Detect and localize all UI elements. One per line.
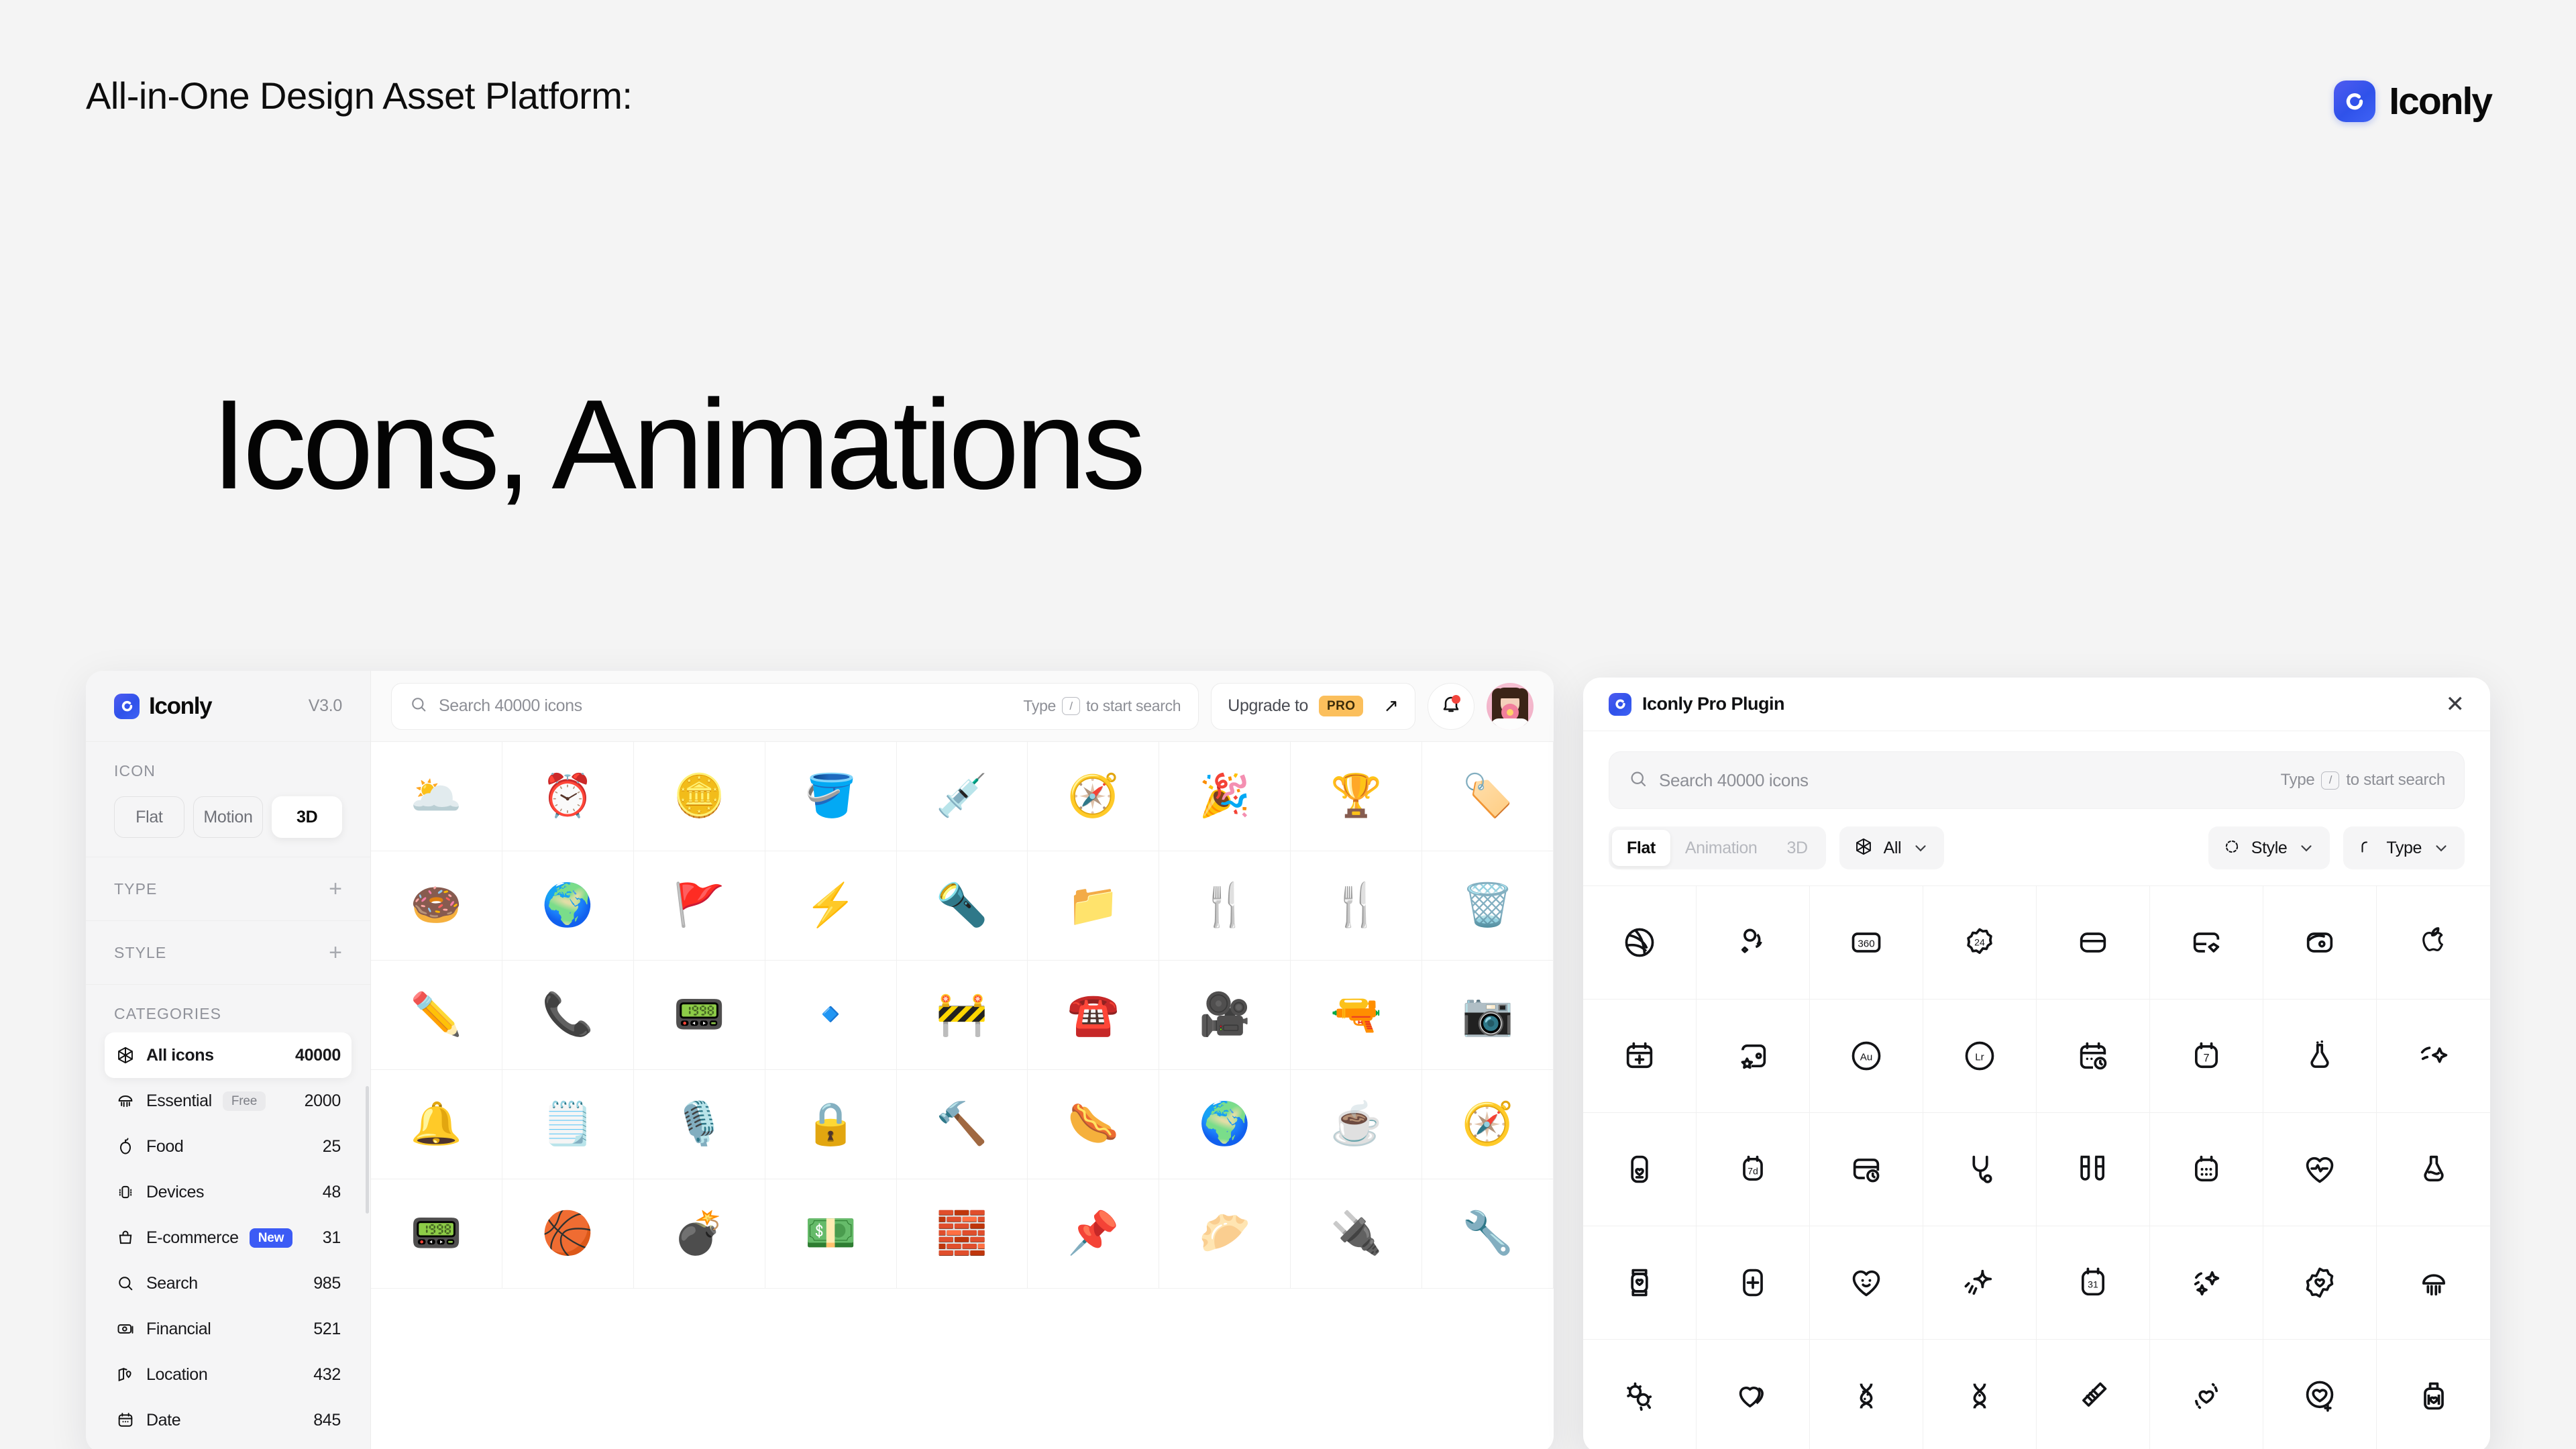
plugin-search-placeholder: Search 40000 icons — [1659, 770, 1809, 791]
svg-text:Au: Au — [1860, 1052, 1873, 1063]
status-badge: Free — [223, 1091, 266, 1111]
sidebar-item-all-icons[interactable]: All icons 40000 — [105, 1032, 352, 1078]
icon-type-toggle-group: Flat Motion 3D — [114, 796, 342, 838]
plugin-icon-grid: 36024AuLr77d31 — [1583, 885, 2490, 1449]
icon-cell[interactable]: 🔒 — [765, 1070, 897, 1179]
360-icon[interactable]: 360 — [1810, 886, 1923, 1000]
close-icon[interactable]: ✕ — [2446, 693, 2465, 716]
lr-circle-icon[interactable]: Lr — [1923, 1000, 2037, 1113]
category-count: 845 — [313, 1411, 341, 1430]
dna-icon[interactable] — [1923, 1340, 2037, 1449]
plus-icon[interactable]: + — [329, 941, 342, 964]
hint-pre: Type — [2281, 771, 2315, 790]
user-sparkle-icon[interactable] — [1697, 886, 1810, 1000]
plugin-style-dropdown[interactable]: Style — [2208, 826, 2330, 869]
chip-icon — [115, 1182, 136, 1202]
au-circle-icon[interactable]: Au — [1810, 1000, 1923, 1113]
icon-cell[interactable]: 🌭 — [1028, 1070, 1159, 1179]
iconly-pro-plugin-panel: Iconly Pro Plugin ✕ Search 40000 icons T… — [1583, 678, 2490, 1449]
search-input[interactable]: Search 40000 icons Type / to start searc… — [391, 683, 1199, 730]
category-count: 31 — [323, 1228, 341, 1248]
sidebar-version: V3.0 — [309, 696, 342, 716]
icon-cell[interactable]: 💣 — [634, 1179, 765, 1289]
category-count: 2000 — [305, 1091, 341, 1111]
svg-text:7: 7 — [2203, 1053, 2209, 1065]
sparkle-motion-icon[interactable] — [2377, 1000, 2490, 1113]
plugin-controls: Search 40000 icons Type / to start searc… — [1583, 731, 2490, 885]
plugin-logo-icon — [1609, 693, 1631, 716]
sidebar-item-food[interactable]: Food 25 — [105, 1124, 352, 1169]
icon-cell[interactable]: 🏀 — [502, 1179, 634, 1289]
apple-fruit-icon — [115, 1136, 136, 1157]
icon-cell[interactable]: 🌥️ — [371, 742, 502, 851]
chevron-down-icon — [2298, 839, 2315, 857]
category-count: 521 — [313, 1320, 341, 1339]
sidebar-item-date[interactable]: Date 845 — [105, 1397, 352, 1443]
plugin-search-input[interactable]: Search 40000 icons Type / to start searc… — [1609, 751, 2465, 809]
icon-cell[interactable]: 🌍 — [1159, 1070, 1291, 1179]
icon-cell[interactable]: 🔦 — [897, 851, 1028, 961]
category-name: Date — [146, 1411, 180, 1430]
icon-cell[interactable]: 🗑️ — [1422, 851, 1554, 961]
icon-cell[interactable]: 🍴 — [1159, 851, 1291, 961]
card-shield-icon[interactable] — [2150, 886, 2263, 1000]
category-count: 48 — [323, 1183, 341, 1202]
category-name: Search — [146, 1274, 198, 1293]
sidebar-item-ecommerce[interactable]: E-commerce New 31 — [105, 1215, 352, 1260]
cube-icon — [1854, 837, 1873, 859]
dna-dots-icon[interactable] — [1810, 1340, 1923, 1449]
search-icon — [1628, 769, 1648, 792]
cube-icon — [115, 1045, 136, 1065]
category-count: 25 — [323, 1137, 341, 1157]
plus-icon[interactable]: + — [329, 877, 342, 900]
style-filter-label: STYLE — [114, 944, 166, 962]
plugin-type-dropdown[interactable]: Type — [2343, 826, 2465, 869]
category-name: Financial — [146, 1320, 211, 1339]
avatar[interactable] — [1487, 683, 1534, 730]
sparkle-star-icon[interactable] — [1923, 1226, 2037, 1340]
calendar-clock-icon[interactable] — [2037, 1000, 2150, 1113]
icon-cell[interactable]: 🚩 — [634, 851, 765, 961]
brand-wordmark: Iconly — [2389, 79, 2491, 123]
icon-cell[interactable]: 🧱 — [897, 1179, 1028, 1289]
icon-cell[interactable]: 🍴 — [1291, 851, 1422, 961]
sidebar-header: Iconly V3.0 — [86, 671, 370, 742]
type-filter-label: TYPE — [114, 880, 157, 898]
icon-cell[interactable]: 🧭 — [1028, 742, 1159, 851]
card-icon[interactable] — [2037, 886, 2150, 1000]
heart-pulse-icon[interactable] — [2263, 1113, 2377, 1226]
wallet-star-icon[interactable] — [1697, 1000, 1810, 1113]
category-count: 985 — [313, 1274, 341, 1293]
sidebar-item-ecommerce-2[interactable]: E-commerce 31 — [105, 1443, 352, 1449]
svg-text:31: 31 — [2088, 1279, 2098, 1290]
icon-cell[interactable]: 🚧 — [897, 961, 1028, 1070]
heart-refresh-icon[interactable] — [2150, 1340, 2263, 1449]
plugin-header: Iconly Pro Plugin ✕ — [1583, 678, 2490, 731]
flask-icon[interactable] — [2263, 1000, 2377, 1113]
svg-text:Lr: Lr — [1975, 1052, 1984, 1063]
iconly-logo-icon — [2334, 80, 2375, 122]
icon-cell[interactable]: 💵 — [765, 1179, 897, 1289]
category-name: Food — [146, 1137, 183, 1157]
plugin-type-toggle-group: Flat Animation 3D — [1609, 826, 1826, 869]
icon-cell[interactable]: 📞 — [502, 961, 634, 1070]
slash-key-icon: / — [1062, 697, 1080, 715]
icon-cell[interactable]: 🔫 — [1291, 961, 1422, 1070]
bag-icon — [115, 1228, 136, 1248]
plugin-tab-3d[interactable]: 3D — [1772, 830, 1822, 866]
hero-eyebrow: All-in-One Design Asset Platform: — [86, 74, 632, 117]
icon-type-section: ICON Flat Motion 3D — [86, 742, 370, 857]
heart-plus-icon[interactable] — [2263, 1340, 2377, 1449]
plugin-style-label: Style — [2251, 839, 2288, 858]
sparkles-icon[interactable] — [2150, 1226, 2263, 1340]
icon-cell[interactable]: ☎️ — [1028, 961, 1159, 1070]
hint-pre: Type — [1023, 697, 1056, 715]
category-list: All icons 40000 Essential Free 2000 Food… — [86, 1032, 370, 1449]
icon-type-3d[interactable]: 3D — [272, 796, 342, 838]
plugin-all-label: All — [1884, 839, 1902, 858]
svg-text:24: 24 — [1974, 936, 1985, 947]
icon-cell[interactable]: 🎙️ — [634, 1070, 765, 1179]
upgrade-button[interactable]: Upgrade to PRO ↗ — [1211, 683, 1415, 730]
hint-post: to start search — [2346, 771, 2445, 790]
icon-cell[interactable]: 🔔 — [371, 1070, 502, 1179]
flask-liquid-icon[interactable] — [2377, 1113, 2490, 1226]
icon-cell[interactable]: ☕ — [1291, 1070, 1422, 1179]
search-icon — [115, 1273, 136, 1293]
icon-cell[interactable]: 🗒️ — [502, 1070, 634, 1179]
icon-cell[interactable]: 🌍 — [502, 851, 634, 961]
plugin-title: Iconly Pro Plugin — [1642, 694, 1784, 714]
category-name: Essential — [146, 1091, 212, 1111]
notifications-button[interactable] — [1428, 683, 1474, 730]
icon-cell[interactable]: 🔧 — [1422, 1179, 1554, 1289]
icon-cell[interactable]: 🔹 — [765, 961, 897, 1070]
sidebar-scrollbar[interactable] — [366, 1086, 369, 1214]
iconly-app-window: Iconly V3.0 ICON Flat Motion 3D TYPE + S… — [86, 671, 1554, 1449]
icon-cell[interactable]: 📟 — [371, 1179, 502, 1289]
dribbble-icon[interactable] — [1583, 886, 1697, 1000]
hero-title-line-1: Icons, Animations — [211, 374, 1142, 516]
chevron-down-icon — [1912, 839, 1929, 857]
heart-badge-icon[interactable] — [2263, 1226, 2377, 1340]
icon-cell[interactable]: 📁 — [1028, 851, 1159, 961]
avatar-body — [1491, 718, 1529, 730]
category-count: 432 — [313, 1365, 341, 1385]
sidebar-item-financial[interactable]: Financial 521 — [105, 1306, 352, 1352]
calendar-31-icon[interactable]: 31 — [2037, 1226, 2150, 1340]
app-toolbar: Search 40000 icons Type / to start searc… — [371, 671, 1554, 742]
chevron-down-icon — [2432, 839, 2450, 857]
style-filter-row[interactable]: STYLE + — [86, 921, 370, 985]
icon-cell[interactable]: 📌 — [1028, 1179, 1159, 1289]
notification-dot — [1452, 695, 1460, 704]
test-tubes-icon[interactable] — [2037, 1113, 2150, 1226]
icon-cell[interactable]: 🏆 — [1291, 742, 1422, 851]
apple-icon[interactable] — [2377, 886, 2490, 1000]
app-sidebar: Iconly V3.0 ICON Flat Motion 3D TYPE + S… — [86, 671, 371, 1449]
sidebar-brand-name: Iconly — [149, 693, 211, 720]
plugin-tab-flat[interactable]: Flat — [1612, 830, 1670, 866]
avatar-bangs — [1497, 688, 1523, 698]
categories-label: CATEGORIES — [86, 985, 370, 1032]
icon-type-motion[interactable]: Motion — [193, 796, 264, 838]
icon-cell[interactable]: 💉 — [897, 742, 1028, 851]
type-filter-row[interactable]: TYPE + — [86, 857, 370, 921]
category-name: E-commerce — [146, 1228, 239, 1248]
category-count: 40000 — [295, 1046, 341, 1065]
medicine-bottle-icon[interactable] — [2377, 1340, 2490, 1449]
calendar-add-icon[interactable] — [1583, 1000, 1697, 1113]
icon-cell[interactable]: 🧭 — [1422, 1070, 1554, 1179]
icon-cell[interactable]: 🔨 — [897, 1070, 1028, 1179]
dashed-circle-icon — [2223, 838, 2241, 859]
status-badge: New — [250, 1228, 292, 1248]
search-placeholder: Search 40000 icons — [439, 696, 582, 716]
arrow-up-right-icon: ↗ — [1383, 696, 1399, 716]
two-hearts-icon[interactable] — [1697, 1340, 1810, 1449]
watch-heart-icon[interactable] — [1583, 1113, 1697, 1226]
bandage-icon[interactable] — [2037, 1340, 2150, 1449]
map-pin-icon — [115, 1364, 136, 1385]
stethoscope-icon[interactable] — [1923, 1113, 2037, 1226]
virus-icon[interactable] — [1583, 1340, 1697, 1449]
jellyfish-icon[interactable] — [2377, 1226, 2490, 1340]
category-name: Location — [146, 1365, 207, 1385]
svg-text:360: 360 — [1858, 938, 1874, 950]
sidebar-item-search[interactable]: Search 985 — [105, 1260, 352, 1306]
watch-band-icon[interactable] — [1583, 1226, 1697, 1340]
calendar-dots-icon[interactable] — [2150, 1113, 2263, 1226]
first-aid-icon[interactable] — [1697, 1226, 1810, 1340]
money-icon — [115, 1319, 136, 1339]
icon-results-grid: 🌥️⏰🪙🪣💉🧭🎉🏆🏷️🍩🌍🚩⚡🔦📁🍴🍴🗑️✏️📞📟🔹🚧☎️🎥🔫📷🔔🗒️🎙️🔒🔨🌭… — [371, 742, 1554, 1449]
sidebar-item-devices[interactable]: Devices 48 — [105, 1169, 352, 1215]
icon-cell[interactable]: 📟 — [634, 961, 765, 1070]
icon-cell[interactable]: 🎥 — [1159, 961, 1291, 1070]
hint-post: to start search — [1086, 697, 1181, 715]
search-icon — [409, 695, 428, 717]
calendar-7-icon[interactable]: 7 — [2150, 1000, 2263, 1113]
plugin-tab-animation[interactable]: Animation — [1670, 830, 1772, 866]
heart-face-icon[interactable] — [1810, 1226, 1923, 1340]
calendar-icon — [115, 1410, 136, 1430]
icon-cell[interactable]: 🏷️ — [1422, 742, 1554, 851]
slash-key-icon: / — [2321, 771, 2339, 790]
page-root: All-in-One Design Asset Platform: Icons,… — [0, 0, 2576, 1449]
plugin-all-dropdown[interactable]: All — [1839, 826, 1945, 869]
jellyfish-icon — [115, 1091, 136, 1111]
icon-section-label: ICON — [114, 762, 342, 780]
icon-cell[interactable]: 🪙 — [634, 742, 765, 851]
wallet-icon[interactable] — [2263, 886, 2377, 1000]
icon-cell[interactable]: ⚡ — [765, 851, 897, 961]
sidebar-item-location[interactable]: Location 432 — [105, 1352, 352, 1397]
icon-cell[interactable]: 🔌 — [1291, 1179, 1422, 1289]
plugin-filter-row: Flat Animation 3D All Style — [1609, 826, 2465, 869]
24-badge-icon[interactable]: 24 — [1923, 886, 2037, 1000]
icon-cell[interactable]: 🍩 — [371, 851, 502, 961]
pro-badge: PRO — [1319, 696, 1363, 716]
category-name: All icons — [146, 1046, 214, 1065]
app-main: Search 40000 icons Type / to start searc… — [371, 671, 1554, 1449]
category-name: Devices — [146, 1183, 204, 1202]
plugin-search-shortcut-hint: Type / to start search — [2281, 771, 2445, 790]
icon-cell[interactable]: 🥟 — [1159, 1179, 1291, 1289]
corner-icon — [2358, 838, 2375, 859]
icon-type-flat[interactable]: Flat — [114, 796, 184, 838]
brand-logo[interactable]: Iconly — [2334, 79, 2491, 123]
plugin-type-label: Type — [2386, 839, 2422, 858]
sidebar-logo-icon — [114, 694, 140, 719]
icon-cell[interactable]: 📷 — [1422, 961, 1554, 1070]
search-shortcut-hint: Type / to start search — [1023, 697, 1181, 715]
clock-card-icon[interactable] — [1810, 1113, 1923, 1226]
sidebar-item-essential[interactable]: Essential Free 2000 — [105, 1078, 352, 1124]
icon-cell[interactable]: 🎉 — [1159, 742, 1291, 851]
icon-cell[interactable]: ✏️ — [371, 961, 502, 1070]
icon-cell[interactable]: 🪣 — [765, 742, 897, 851]
upgrade-label: Upgrade to — [1228, 696, 1308, 716]
7d-icon[interactable]: 7d — [1697, 1113, 1810, 1226]
icon-cell[interactable]: ⏰ — [502, 742, 634, 851]
svg-text:7d: 7d — [1748, 1166, 1758, 1177]
